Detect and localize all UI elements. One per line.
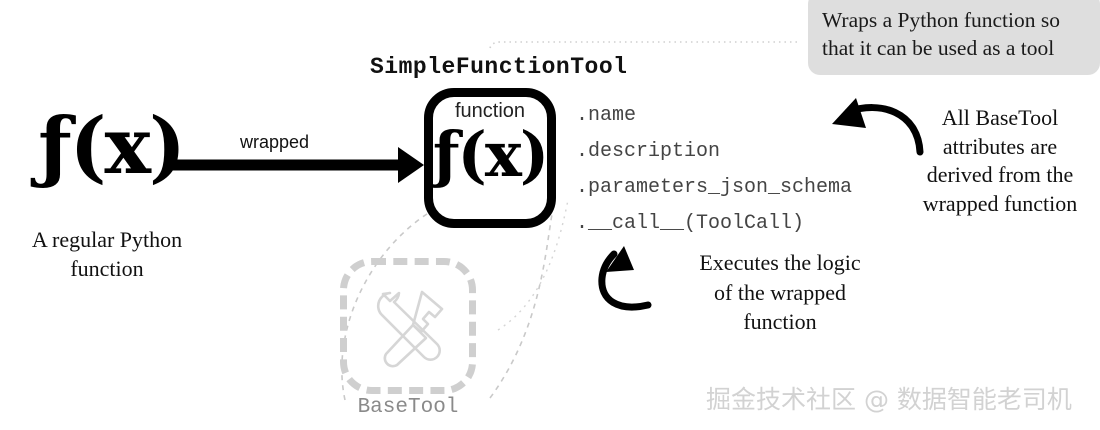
watermark-text: 掘金技术社区 @ 数据智能老司机 [706, 380, 1072, 416]
connector-basetool-right [490, 214, 552, 398]
right-annotation-line-3: derived from the [900, 161, 1100, 190]
hammer-wrench-icon [360, 276, 460, 376]
executes-line-2: of the wrapped [660, 278, 900, 308]
tool-attributes-list: .name .description .parameters_json_sche… [576, 98, 852, 242]
basetool-label: BaseTool [330, 396, 486, 419]
left-function-caption: A regular Python function [0, 226, 214, 283]
attribute-parameters-json-schema: .parameters_json_schema [576, 170, 852, 206]
wrapped-arrow-label: wrapped [240, 132, 309, 153]
attribute-call: .__call__(ToolCall) [576, 206, 852, 242]
right-annotation-line-2: attributes are [900, 133, 1100, 162]
right-annotation-line-4: wrapped function [900, 190, 1100, 219]
connector-title-to-callout [490, 42, 800, 48]
simplefunctiontool-title: SimpleFunctionTool [370, 54, 627, 80]
function-icon-symbol: ƒ(x) [424, 124, 556, 186]
callout-box: Wraps a Python function so that it can b… [808, 0, 1100, 75]
executes-line-1: Executes the logic [660, 248, 900, 278]
executes-arrow [602, 246, 648, 307]
basetool-attributes-annotation: All BaseTool attributes are derived from… [900, 104, 1100, 218]
right-annotation-line-1: All BaseTool [900, 104, 1100, 133]
attribute-name: .name [576, 98, 852, 134]
executes-line-3: function [660, 307, 900, 337]
left-caption-line-1: A regular Python [0, 226, 214, 255]
executes-logic-annotation: Executes the logic of the wrapped functi… [660, 248, 900, 337]
callout-line-2: that it can be used as a tool [822, 34, 1090, 62]
callout-line-1: Wraps a Python function so [822, 6, 1090, 34]
diagram-canvas: Wraps a Python function so that it can b… [0, 0, 1100, 430]
left-function-symbol: ƒ(x) [36, 108, 186, 186]
attribute-description: .description [576, 134, 852, 170]
left-caption-line-2: function [0, 255, 214, 284]
